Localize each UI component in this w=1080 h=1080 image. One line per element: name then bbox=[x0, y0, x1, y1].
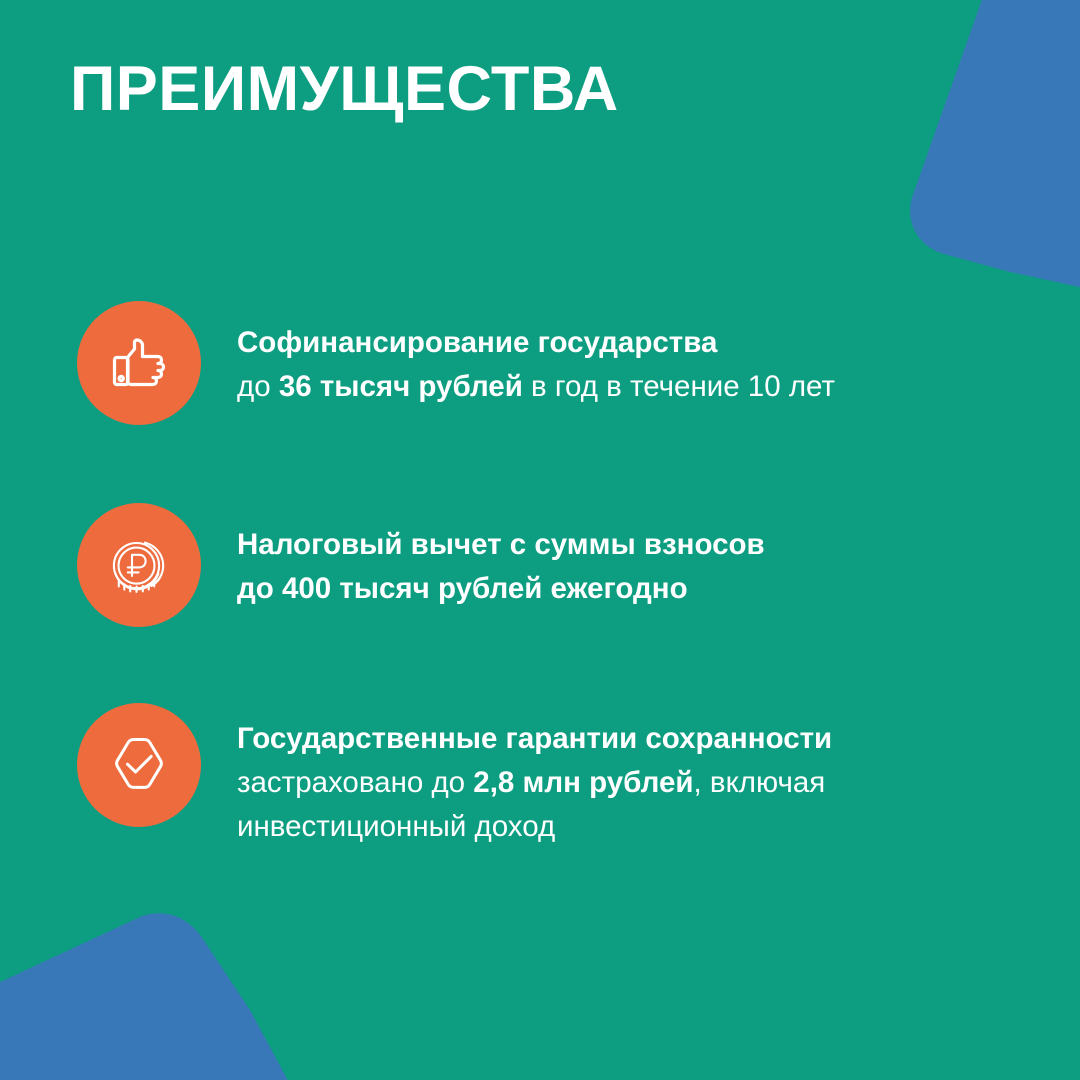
benefit-row: Государственные гарантии сохранности зас… bbox=[77, 703, 832, 849]
detail-highlight: 36 тысяч рублей bbox=[279, 370, 523, 403]
detail-highlight: 2,8 млн рублей bbox=[473, 766, 693, 799]
benefit-row: Налоговый вычет с суммы взносов до 400 т… bbox=[77, 503, 765, 627]
blue-shape-top-right bbox=[910, 0, 1080, 300]
benefit-icon-badge bbox=[77, 301, 201, 425]
benefit-detail: до 400 тысяч рублей ежегодно bbox=[237, 567, 765, 611]
page-title: ПРЕИМУЩЕСТВА bbox=[70, 56, 619, 122]
detail-prefix: до bbox=[237, 370, 279, 403]
benefit-heading: Налоговый вычет с суммы взносов bbox=[237, 523, 765, 567]
benefit-detail: застраховано до 2,8 млн рублей, включая bbox=[237, 761, 832, 805]
benefit-text: Софинансирование государства до 36 тысяч… bbox=[237, 301, 835, 409]
blue-shape-bottom-left bbox=[0, 913, 320, 1080]
detail-highlight: до 400 тысяч рублей ежегодно bbox=[237, 572, 688, 605]
benefits-slide: ПРЕИМУЩЕСТВА Софинансирование государств… bbox=[0, 0, 1080, 1080]
benefit-row: Софинансирование государства до 36 тысяч… bbox=[77, 301, 835, 425]
thumbs-up-icon bbox=[103, 327, 175, 399]
benefit-icon-badge bbox=[77, 703, 201, 827]
benefit-detail: до 36 тысяч рублей в год в течение 10 ле… bbox=[237, 365, 835, 409]
benefit-icon-badge bbox=[77, 503, 201, 627]
detail-suffix: в год в течение 10 лет bbox=[523, 370, 835, 403]
benefit-detail-line3: инвестиционный доход bbox=[237, 805, 832, 849]
benefit-heading: Государственные гарантии сохранности bbox=[237, 717, 832, 761]
benefit-heading: Софинансирование государства bbox=[237, 321, 835, 365]
hexagon-check-icon bbox=[103, 729, 175, 801]
benefit-text: Государственные гарантии сохранности зас… bbox=[237, 703, 832, 849]
detail-prefix: застраховано до bbox=[237, 766, 473, 799]
ruble-coin-icon bbox=[103, 529, 175, 601]
benefit-text: Налоговый вычет с суммы взносов до 400 т… bbox=[237, 503, 765, 611]
detail-suffix: , включая bbox=[694, 766, 826, 799]
